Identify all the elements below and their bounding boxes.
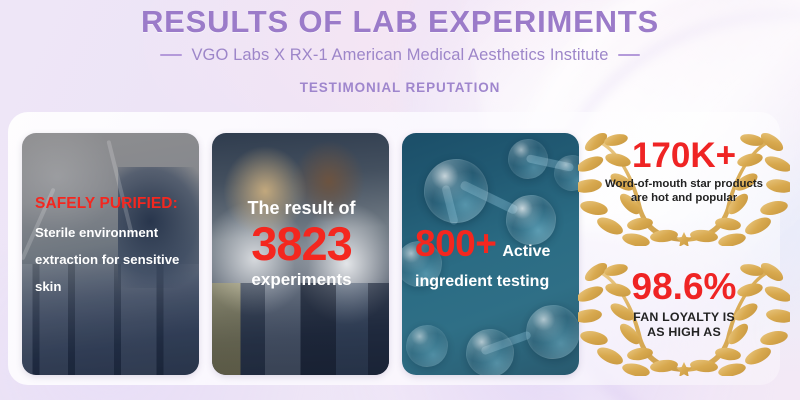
card-line-3: experiments xyxy=(225,271,378,290)
card-experiments-text: The result of 3823 experiments xyxy=(225,199,378,289)
page-title: RESULTS OF LAB EXPERIMENTS xyxy=(0,6,800,39)
subtitle-row: VGO Labs X RX-1 American Medical Aesthet… xyxy=(0,46,800,65)
dash-left-icon xyxy=(160,54,182,56)
stat-caption-line-2: AS HIGH AS xyxy=(578,325,790,340)
card-number: 800+ xyxy=(415,225,496,262)
stat-caption-line-1: FAN LOYALTY IS xyxy=(578,310,790,325)
stat-value: 98.6% xyxy=(578,268,790,305)
card-label-1: Active xyxy=(502,244,550,260)
stat-caption-line-2: are hot and popular xyxy=(578,192,790,206)
stat-fan-loyalty: 98.6% FAN LOYALTY IS AS HIGH AS xyxy=(578,258,790,376)
card-body-line-3: skin xyxy=(35,273,188,300)
card-safely-purified[interactable]: SAFELY PURIFIED: Sterile environment ext… xyxy=(22,133,199,375)
infographic-root: RESULTS OF LAB EXPERIMENTS VGO Labs X RX… xyxy=(0,0,800,400)
card-body-line-1: Sterile environment xyxy=(35,219,188,246)
dash-right-icon xyxy=(618,54,640,56)
stat-value: 170K+ xyxy=(578,138,790,173)
card-ingredient-text: 800+ Active ingredient testing xyxy=(415,225,568,291)
card-body: Sterile environment extraction for sensi… xyxy=(35,219,188,300)
cards-row: SAFELY PURIFIED: Sterile environment ext… xyxy=(22,133,579,375)
molecule-atom-icon xyxy=(526,305,579,359)
card-ingredient-testing[interactable]: 800+ Active ingredient testing xyxy=(402,133,579,375)
card-experiments-count[interactable]: The result of 3823 experiments xyxy=(212,133,389,375)
molecule-atom-icon xyxy=(508,139,548,179)
card-line-1: The result of xyxy=(225,199,378,219)
stat-word-of-mouth: 170K+ Word-of-mouth star products are ho… xyxy=(578,128,790,246)
header: RESULTS OF LAB EXPERIMENTS VGO Labs X RX… xyxy=(0,6,800,95)
stat-caption: FAN LOYALTY IS AS HIGH AS xyxy=(578,310,790,340)
stat-content: 98.6% FAN LOYALTY IS AS HIGH AS xyxy=(578,268,790,340)
page-subtitle: VGO Labs X RX-1 American Medical Aesthet… xyxy=(191,46,608,65)
stat-content: 170K+ Word-of-mouth star products are ho… xyxy=(578,138,790,206)
molecule-atom-icon xyxy=(466,329,514,375)
card-safely-purified-text: SAFELY PURIFIED: Sterile environment ext… xyxy=(35,195,188,300)
card-body-line-2: extraction for sensitive xyxy=(35,246,188,273)
section-label: TESTIMONIAL REPUTATION xyxy=(0,80,800,95)
stat-caption-line-1: Word-of-mouth star products xyxy=(578,178,790,192)
card-heading: SAFELY PURIFIED: xyxy=(35,195,188,212)
card-number: 3823 xyxy=(225,220,378,268)
molecule-atom-icon xyxy=(406,325,448,367)
card-number-row: 800+ Active xyxy=(415,225,568,262)
card-label-2: ingredient testing xyxy=(415,273,568,291)
molecule-atom-icon xyxy=(424,159,488,223)
stat-caption: Word-of-mouth star products are hot and … xyxy=(578,178,790,206)
